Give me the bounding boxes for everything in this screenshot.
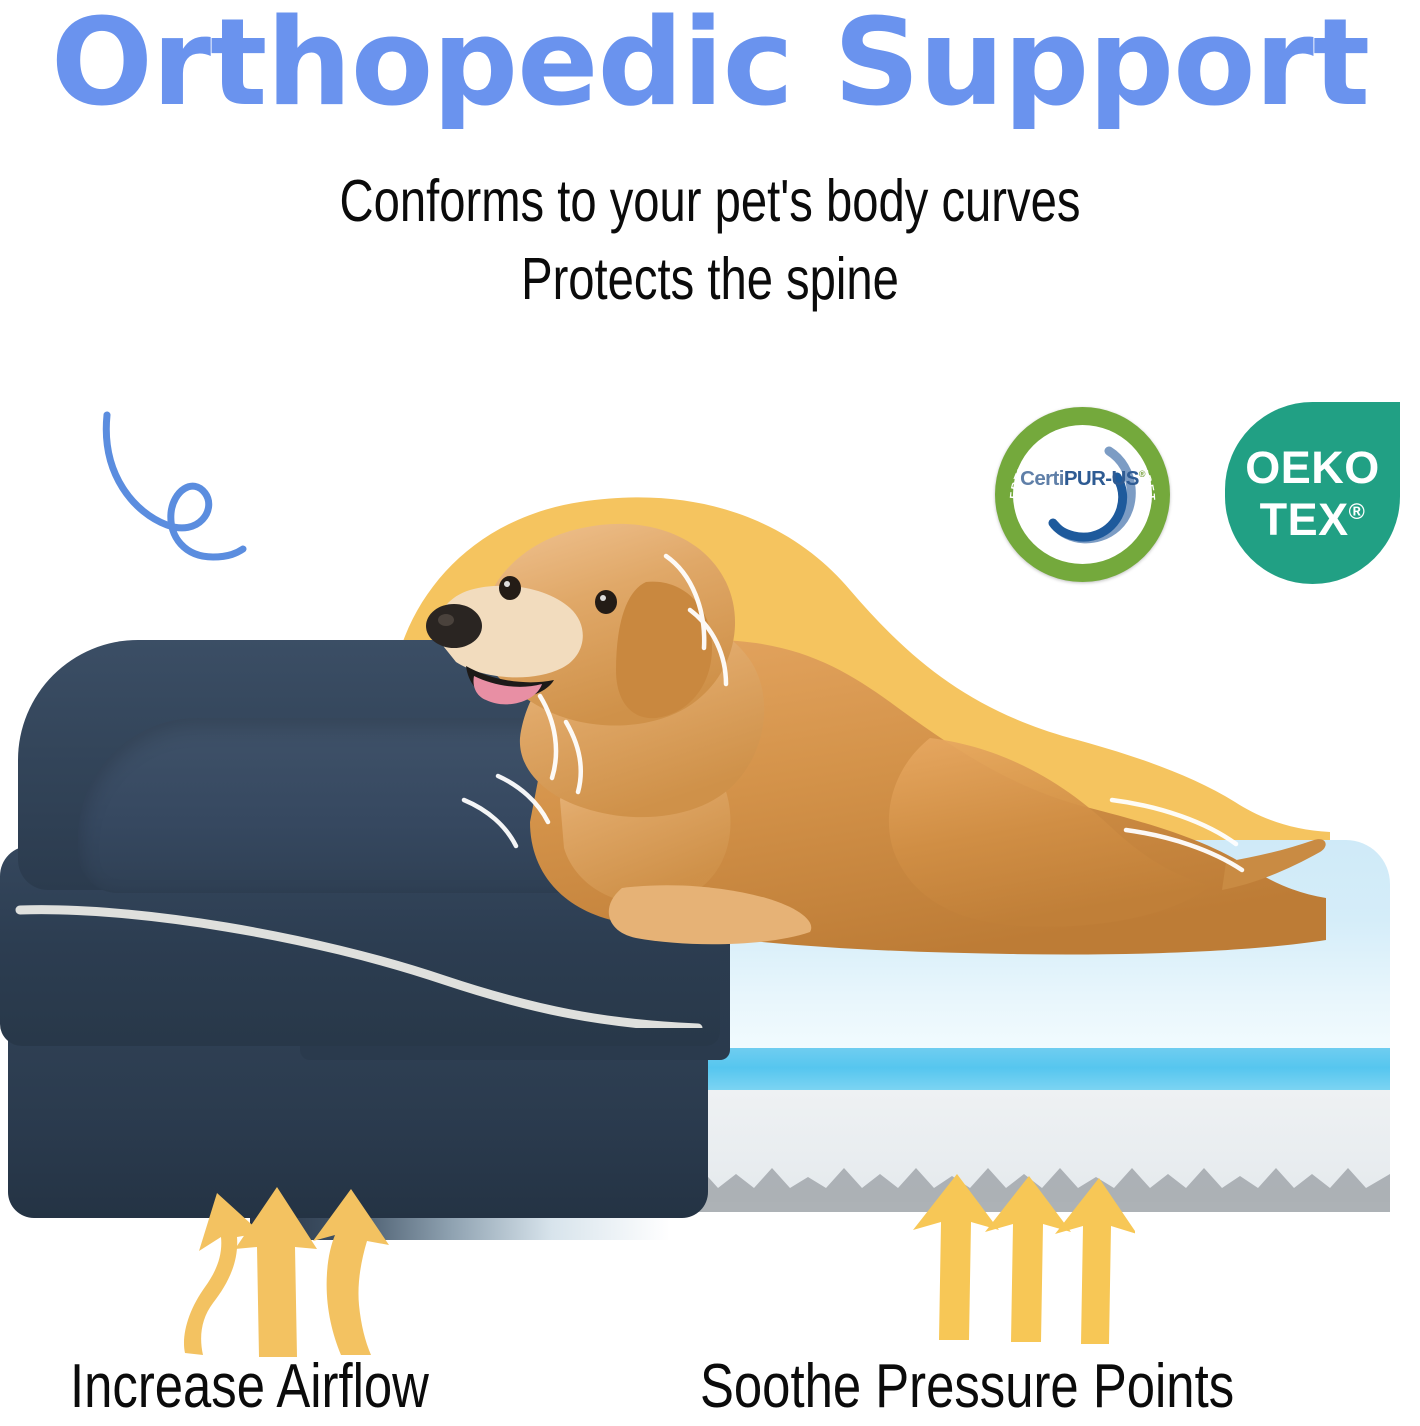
certipur-word-purus: PUR-US bbox=[1064, 467, 1139, 490]
certipur-us-badge: CONTAINS CERTIFIED FLEXIBLE POLYURETHANE… bbox=[995, 407, 1170, 582]
product-infographic: Orthopedic Support Conforms to your pet'… bbox=[0, 0, 1420, 1426]
subtitle-line-1: Conforms to your pet's body curves bbox=[142, 172, 1278, 231]
airflow-arrows bbox=[165, 1175, 395, 1360]
subtitle-line-2: Protects the spine bbox=[142, 250, 1278, 309]
certipur-word-certi: Certi bbox=[1020, 467, 1064, 490]
page-title: Orthopedic Support bbox=[0, 4, 1420, 124]
pressure-point-arrows bbox=[905, 1170, 1135, 1345]
certipur-wordmark: CertiPUR-US® bbox=[1013, 467, 1152, 491]
certipur-registered-mark: ® bbox=[1139, 469, 1145, 479]
product-illustration bbox=[0, 430, 1420, 1330]
certipur-swoosh-icon bbox=[1013, 425, 1152, 564]
golden-retriever-dog bbox=[370, 470, 1330, 1050]
caption-increase-airflow: Increase Airflow bbox=[70, 1356, 429, 1418]
caption-soothe-pressure-points: Soothe Pressure Points bbox=[700, 1356, 1234, 1418]
